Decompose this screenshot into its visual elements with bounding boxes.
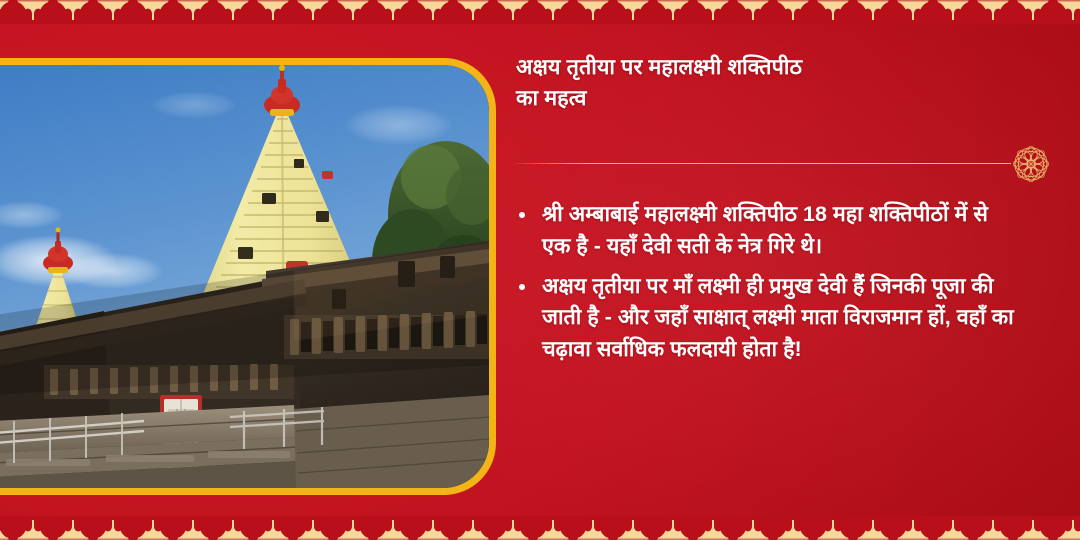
list-item: श्री अम्बाबाई महालक्ष्मी शक्तिपीठ 18 महा… — [516, 199, 1021, 263]
page-title-line-1: अक्षय तृतीया पर महालक्ष्मी शक्तिपीठ — [516, 52, 986, 83]
list-item: अक्षय तृतीया पर माँ लक्ष्मी ही प्रमुख दे… — [516, 271, 1021, 366]
gold-divider-line — [516, 163, 1011, 164]
rosette-medallion-icon — [1006, 139, 1056, 189]
list-item-text: श्री अम्बाबाई महालक्ष्मी शक्तिपीठ 18 महा… — [542, 202, 988, 258]
mahalaxmi-temple-photo — [0, 65, 489, 488]
bullet-dot-icon — [519, 284, 525, 290]
list-item-text: अक्षय तृतीया पर माँ लक्ष्मी ही प्रमुख दे… — [542, 274, 1014, 362]
bullet-list: श्री अम्बाबाई महालक्ष्मी शक्तिपीठ 18 महा… — [516, 199, 1062, 366]
scalloped-border-top — [0, 0, 1080, 24]
divider-row — [516, 139, 1062, 189]
poster-canvas: अक्षय तृतीया पर महालक्ष्मी शक्तिपीठ का म… — [0, 0, 1080, 540]
photo-frame — [0, 58, 496, 495]
bullet-dot-icon — [519, 212, 525, 218]
page-title: अक्षय तृतीया पर महालक्ष्मी शक्तिपीठ का म… — [516, 52, 986, 113]
page-title-line-2: का महत्व — [516, 83, 986, 114]
scalloped-border-bottom — [0, 516, 1080, 540]
content-column: अक्षय तृतीया पर महालक्ष्मी शक्तिपीठ का म… — [516, 52, 1062, 498]
